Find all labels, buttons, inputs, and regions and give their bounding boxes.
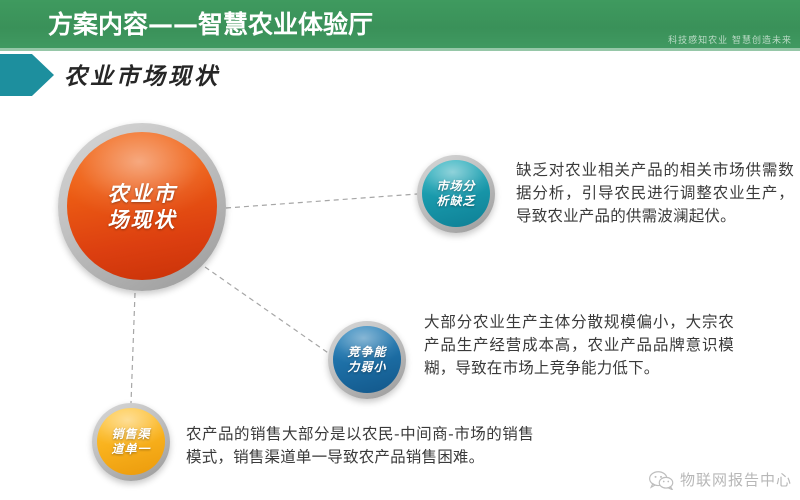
callout-text-sales-channel: 农产品的销售大部分是以农民-中间商-市场的销售模式，销售渠道单一导致农产品销售困… xyxy=(186,423,534,469)
header-tagline: 科技感知农业 智慧创造未来 xyxy=(668,33,792,46)
node-weak-competitiveness[interactable]: 竞争能 力弱小 xyxy=(328,321,406,399)
watermark: 物联网报告中心 xyxy=(648,469,792,490)
triangle-right-icon xyxy=(0,54,54,96)
wechat-icon xyxy=(648,470,674,490)
section-title: 农业市场现状 xyxy=(64,57,220,91)
node-label: 销售渠 道单一 xyxy=(111,427,150,457)
slide-canvas: 方案内容——智慧农业体验厅 科技感知农业 智慧创造未来 农业市场现状 农业市 场… xyxy=(0,0,800,500)
node-label: 农业市 场现状 xyxy=(108,181,177,234)
diagram-area: 农业市 场现状 市场分 析缺乏 竞争能 力弱小 销售渠 道单一 缺乏对农业相关产… xyxy=(0,99,800,500)
node-market-analysis[interactable]: 市场分 析缺乏 xyxy=(417,155,495,233)
section-header: 农业市场现状 xyxy=(0,51,800,99)
callout-text-competitiveness: 大部分农业生产主体分散规模偏小，大宗农产品生产经营成本高，农业产品品牌意识模糊，… xyxy=(424,311,734,380)
callout-text-market-analysis: 缺乏对农业相关产品的相关市场供需数据分析，引导农民进行调整农业生产，导致农业产品… xyxy=(516,159,794,228)
watermark-text: 物联网报告中心 xyxy=(680,469,792,490)
page-title: 方案内容——智慧农业体验厅 xyxy=(48,8,373,42)
node-label: 市场分 析缺乏 xyxy=(436,179,475,209)
header-band: 方案内容——智慧农业体验厅 科技感知农业 智慧创造未来 xyxy=(0,0,800,51)
node-label: 竞争能 力弱小 xyxy=(347,345,386,375)
node-single-sales-channel[interactable]: 销售渠 道单一 xyxy=(92,403,170,481)
node-main-topic[interactable]: 农业市 场现状 xyxy=(58,123,226,291)
